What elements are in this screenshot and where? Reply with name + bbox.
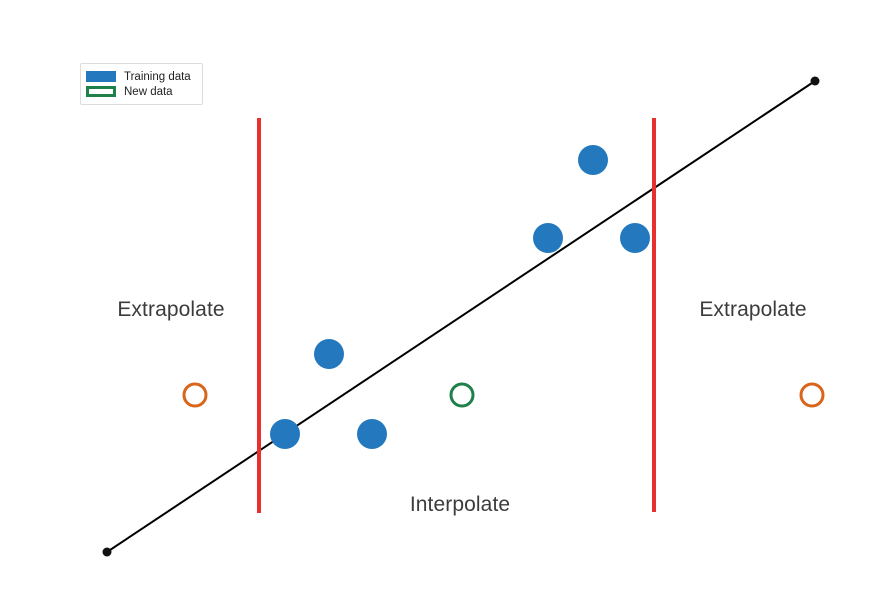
training-data-point: [620, 223, 650, 253]
training-data-point: [533, 223, 563, 253]
new-data-extrapolation-region--points: [184, 384, 823, 406]
new-data-points: [451, 384, 473, 406]
training-data-point: [357, 419, 387, 449]
training-data-point: [270, 419, 300, 449]
legend-swatch-training-data-icon: [86, 71, 116, 82]
fitted-line-endpoint-start: [103, 548, 112, 557]
legend-label-training-data: Training data: [124, 71, 191, 83]
figure-canvas: Extrapolate Interpolate Extrapolate Trai…: [0, 0, 890, 603]
training-data-points: [270, 145, 650, 449]
new-data-point: [451, 384, 473, 406]
annotation-extrapolate-left: Extrapolate: [117, 298, 224, 322]
fitted-line-endpoint-end: [811, 77, 820, 86]
training-data-point: [314, 339, 344, 369]
training-data-point: [578, 145, 608, 175]
legend-swatch-new-data-icon: [86, 86, 116, 97]
annotation-interpolate: Interpolate: [410, 493, 510, 517]
annotation-extrapolate-right: Extrapolate: [699, 298, 806, 322]
new-data-point: [801, 384, 823, 406]
new-data-point: [184, 384, 206, 406]
legend: Training data New data: [80, 63, 203, 105]
legend-entry-training-data: Training data: [86, 69, 196, 84]
legend-entry-new-data: New data: [86, 84, 196, 99]
legend-label-new-data: New data: [124, 86, 173, 98]
